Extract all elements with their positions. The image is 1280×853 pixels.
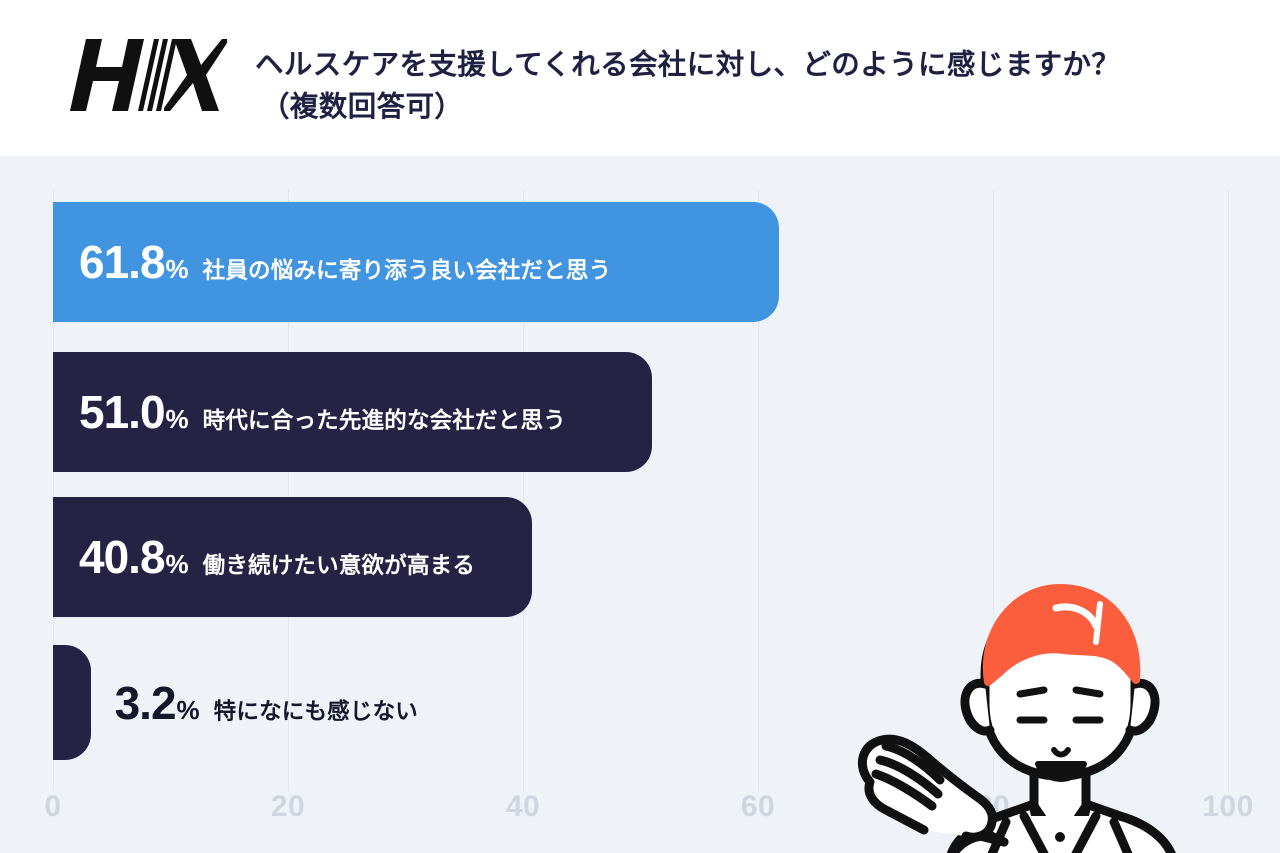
- bar-4-label: 特になにも感じない: [214, 701, 418, 724]
- page-title: ヘルスケアを支援してくれる会社に対し、どのように感じますか？ （複数回答可）: [255, 44, 1265, 128]
- title-line-2: （複数回答可）: [255, 86, 1265, 128]
- x-tick-label-0: 0: [44, 790, 61, 824]
- hix-logo: [52, 29, 227, 121]
- x-tick-label-80: 80: [976, 790, 1010, 824]
- bar-1-label: 社員の悩みに寄り添う良い会社だと思う: [203, 260, 612, 283]
- bar-3-content: 40.8%働き続けたい意欲が高まる: [79, 534, 475, 580]
- bar-1-content: 61.8%社員の悩みに寄り添う良い会社だと思う: [79, 239, 611, 285]
- bar-3-unit: %: [166, 551, 189, 577]
- x-tick-label-40: 40: [506, 790, 540, 824]
- header-bar: ヘルスケアを支援してくれる会社に対し、どのように感じますか？ （複数回答可）: [0, 0, 1280, 156]
- gridline-100: [1228, 190, 1229, 791]
- x-tick-label-100: 100: [1202, 790, 1254, 824]
- x-tick-label-60: 60: [741, 790, 775, 824]
- bar-4: [53, 645, 91, 760]
- bar-2-label: 時代に合った先進的な会社だと思う: [203, 410, 566, 433]
- bar-4-unit: %: [177, 697, 200, 723]
- bar-2-content: 51.0%時代に合った先進的な会社だと思う: [79, 389, 566, 435]
- infographic-page: ヘルスケアを支援してくれる会社に対し、どのように感じますか？ （複数回答可） 0…: [0, 0, 1280, 853]
- bar-3-label: 働き続けたい意欲が高まる: [203, 555, 475, 578]
- x-tick-label-20: 20: [271, 790, 305, 824]
- bar-1-unit: %: [166, 256, 189, 282]
- bar-4-value: 3.2: [115, 680, 176, 726]
- bar-chart: 020406080100 61.8%社員の悩みに寄り添う良い会社だと思う51.0…: [0, 156, 1280, 853]
- gridline-80: [993, 190, 994, 791]
- title-line-1: ヘルスケアを支援してくれる会社に対し、どのように感じますか？: [255, 44, 1265, 86]
- bar-1-value: 61.8: [79, 239, 165, 285]
- bar-4-content: 3.2%特になにも感じない: [115, 680, 418, 726]
- bar-3-value: 40.8: [79, 534, 165, 580]
- bar-2-unit: %: [166, 406, 189, 432]
- bar-2-value: 51.0: [79, 389, 165, 435]
